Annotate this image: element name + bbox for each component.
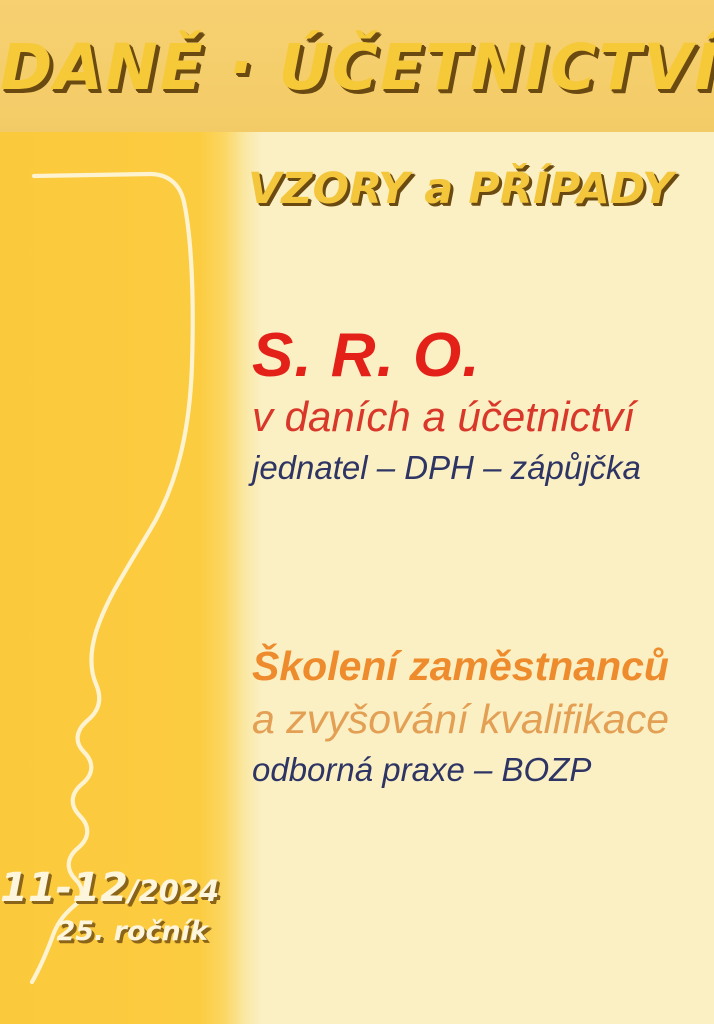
article-subtitle: a zvyšování kvalifikace xyxy=(252,698,704,741)
magazine-title: DANĚ · ÚČETNICTVÍ xyxy=(0,36,714,99)
article-block-sro: S. R. O. v daních a účetnictví jednatel … xyxy=(252,325,704,486)
issue-number: 11-12 xyxy=(0,865,128,911)
article-subtitle: v daních a účetnictví xyxy=(252,395,704,439)
issue-year: /2024 xyxy=(128,874,219,908)
main-panel xyxy=(262,132,714,1024)
article-headline: S. R. O. xyxy=(252,325,704,387)
article-headline: Školení zaměstnanců xyxy=(252,645,704,688)
article-block-skoleni: Školení zaměstnanců a zvyšování kvalifik… xyxy=(252,645,704,788)
magazine-cover: DANĚ · ÚČETNICTVÍ VZORY a PŘÍPADY S. R. … xyxy=(0,0,714,1024)
section-rubric: VZORY a PŘÍPADY xyxy=(248,168,698,211)
article-kicker: odborná praxe – BOZP xyxy=(252,753,704,788)
masthead-band: DANĚ · ÚČETNICTVÍ xyxy=(0,0,714,132)
issue-volume: 25. ročník xyxy=(0,918,208,945)
article-kicker: jednatel – DPH – zápůjčka xyxy=(252,451,704,486)
issue-line: 11-12/2024 xyxy=(0,868,208,908)
